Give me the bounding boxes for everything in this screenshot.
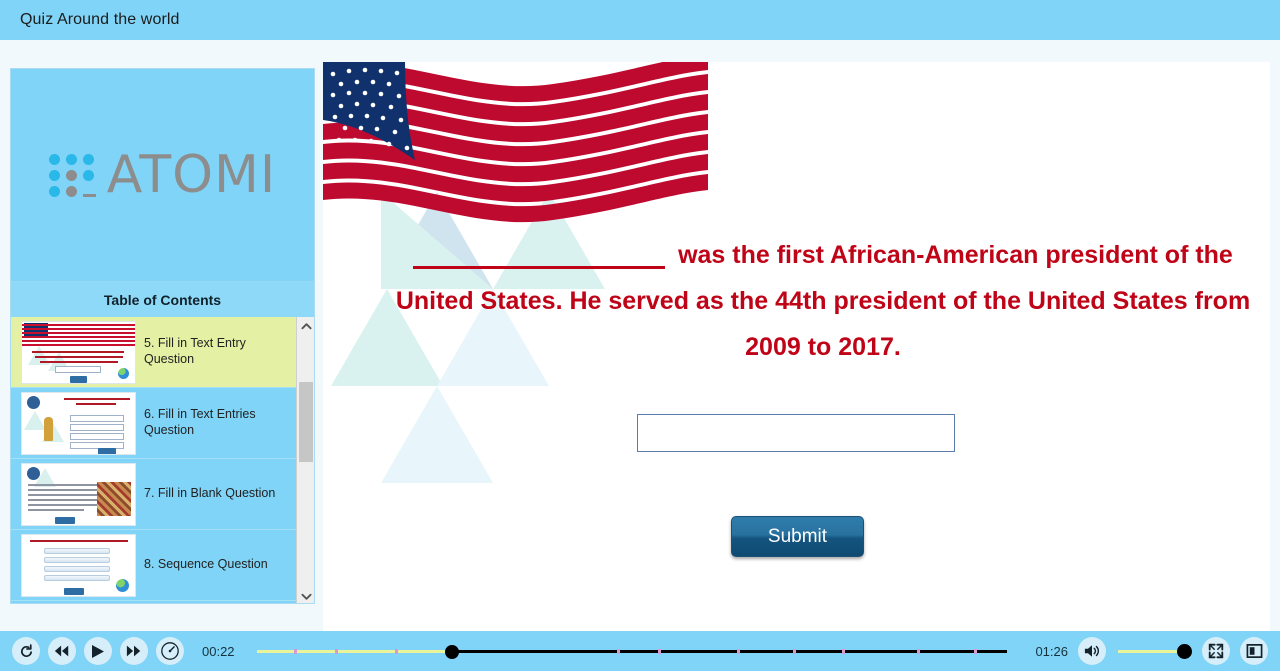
fast-forward-icon (126, 644, 142, 658)
sidebar-item-label: 5. Fill in Text Entry Question (144, 336, 296, 367)
sidebar-item-label: 8. Sequence Question (144, 557, 268, 573)
answer-input[interactable] (637, 414, 955, 452)
seek-bar[interactable] (257, 643, 1008, 659)
seek-chapter-tick (842, 649, 845, 654)
submit-button[interactable]: Submit (731, 516, 864, 557)
replay-button[interactable] (12, 637, 40, 665)
thumb-food-image (97, 482, 131, 516)
logo-wordmark: ATOMI (107, 145, 276, 205)
fast-forward-button[interactable] (120, 637, 148, 665)
seek-chapter-tick (793, 649, 796, 654)
seek-chapter-tick (974, 649, 977, 654)
playback-speed-button[interactable] (156, 637, 184, 665)
scroll-up-button[interactable] (297, 317, 314, 335)
atomi-logo: ATOMI (49, 145, 276, 205)
decorative-triangle (381, 386, 493, 483)
player-control-bar: 00:22 01:26 (0, 631, 1280, 671)
play-button[interactable] (84, 637, 112, 665)
seek-chapter-tick (737, 649, 740, 654)
seek-chapter-tick (917, 649, 920, 654)
toc-scrollbar[interactable] (296, 317, 314, 604)
rewind-button[interactable] (48, 637, 76, 665)
thumb-avatar-icon (27, 396, 40, 409)
elapsed-time: 00:22 (202, 644, 235, 659)
thumb-globe-icon (116, 579, 129, 592)
sidebar-item-label: 6. Fill in Text Entries Question (144, 407, 296, 438)
seek-handle[interactable] (445, 645, 459, 659)
question-text: was the first African-American president… (383, 232, 1263, 370)
fullscreen-icon (1207, 642, 1225, 660)
toc-list: 5. Fill in Text Entry Question (11, 317, 296, 604)
seek-progress-fill (257, 650, 452, 653)
volume-on-icon (1083, 643, 1101, 659)
thumbnail-question-5 (21, 321, 136, 384)
thumbnail-question-6 (21, 392, 136, 455)
chevron-down-icon (301, 591, 312, 602)
rewind-icon (54, 644, 70, 658)
question-sentence: was the first African-American president… (396, 241, 1250, 361)
seek-chapter-tick (395, 649, 398, 654)
seek-chapter-tick (294, 649, 297, 654)
replay-icon (18, 643, 35, 660)
toggle-sidebar-icon (1246, 643, 1263, 659)
speed-gauge-icon (160, 641, 180, 661)
question-blank-line (413, 266, 665, 269)
seek-chapter-tick (335, 649, 338, 654)
seek-chapter-tick (658, 649, 661, 654)
toggle-sidebar-button[interactable] (1240, 637, 1268, 665)
atomi-dots-logo-icon (49, 154, 95, 197)
course-stage: ATOMI Table of Contents (0, 40, 1280, 631)
thumbnail-question-7 (21, 463, 136, 526)
play-icon (91, 644, 105, 659)
thumb-trophy-icon (44, 417, 53, 441)
volume-handle[interactable] (1177, 644, 1192, 659)
thumbnail-question-8 (21, 534, 136, 597)
sidebar-item-label: 7. Fill in Blank Question (144, 486, 275, 502)
fullscreen-button[interactable] (1202, 637, 1230, 665)
thumb-avatar-icon (27, 467, 40, 480)
scrollbar-thumb[interactable] (299, 382, 313, 462)
sidebar-item-question-5[interactable]: 5. Fill in Text Entry Question (11, 317, 296, 388)
total-time: 01:26 (1035, 644, 1068, 659)
seek-chapter-tick (617, 649, 620, 654)
sidebar-item-question-8[interactable]: 8. Sequence Question (11, 530, 296, 601)
sidebar: ATOMI Table of Contents (10, 68, 315, 604)
usa-flag-icon (323, 62, 713, 227)
thumb-flag-icon (22, 322, 135, 348)
toc-list-container: 5. Fill in Text Entry Question (11, 317, 314, 604)
scroll-down-button[interactable] (297, 587, 314, 604)
volume-slider[interactable] (1118, 643, 1192, 659)
toc-title: Table of Contents (11, 282, 314, 317)
slide-content-panel: was the first African-American president… (323, 62, 1270, 642)
sidebar-logo-area: ATOMI (11, 69, 314, 282)
sidebar-item-question-7[interactable]: 7. Fill in Blank Question (11, 459, 296, 530)
sidebar-item-question-6[interactable]: 6. Fill in Text Entries Question (11, 388, 296, 459)
volume-button[interactable] (1078, 637, 1106, 665)
chevron-up-icon (301, 321, 312, 332)
page-title: Quiz Around the world (20, 11, 180, 29)
app-header: Quiz Around the world (0, 0, 1280, 40)
